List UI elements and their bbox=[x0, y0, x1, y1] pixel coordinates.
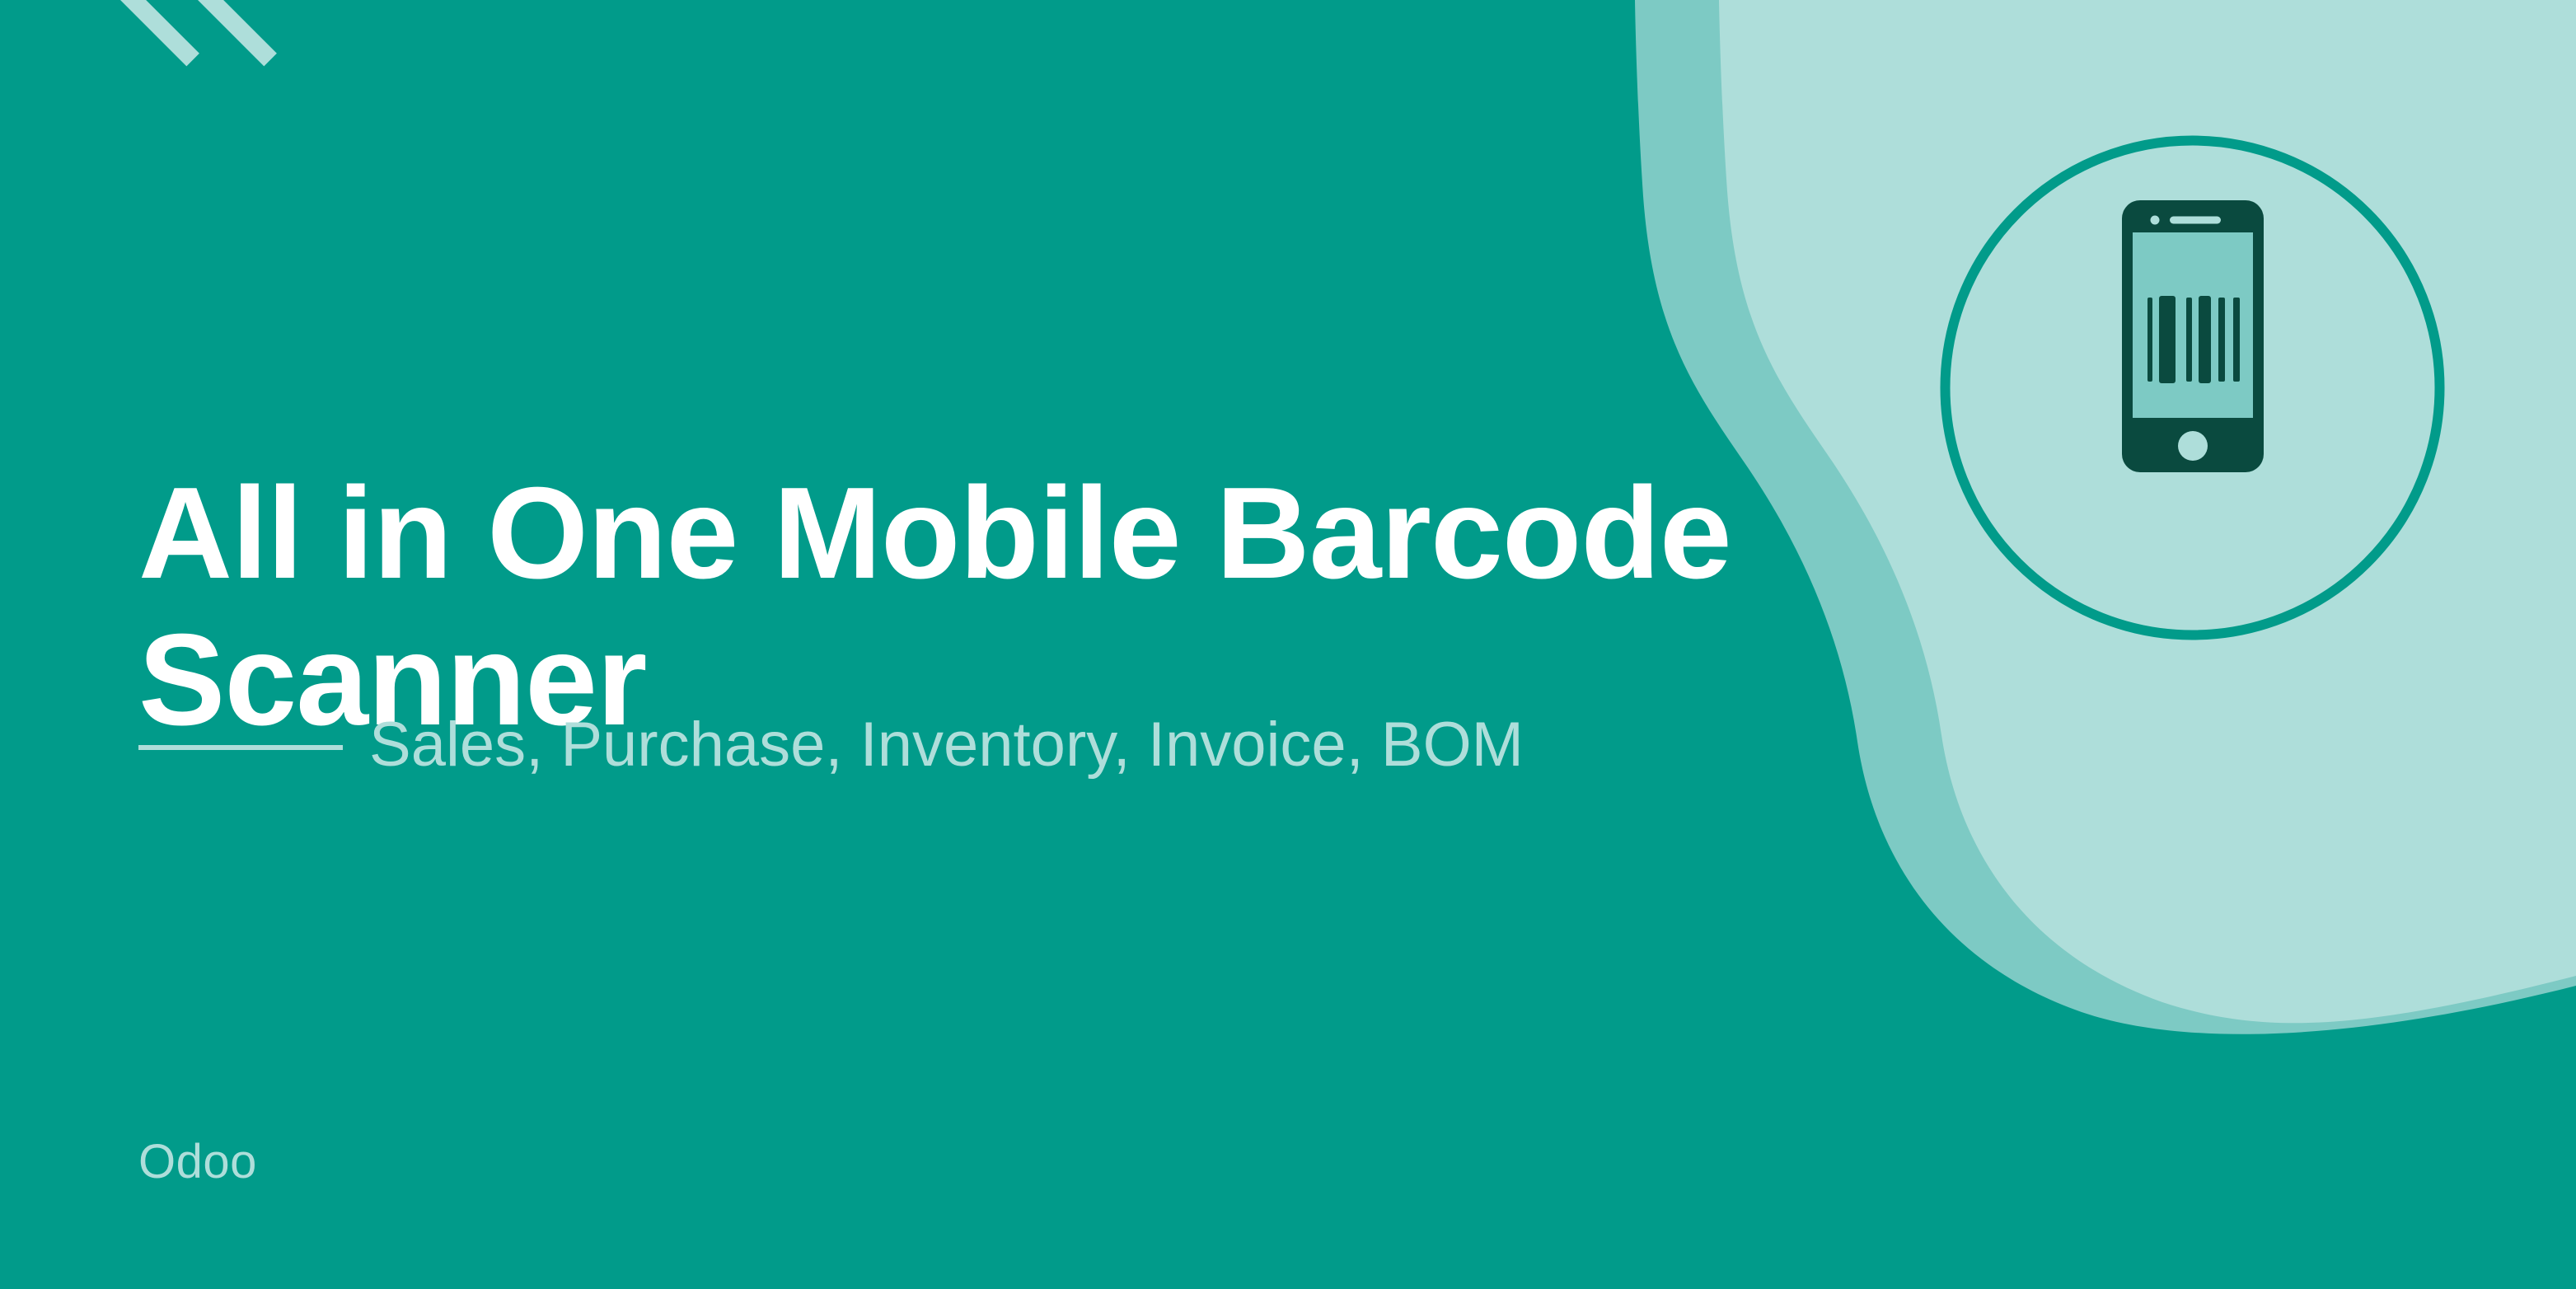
slide-subtitle: Sales, Purchase, Inventory, Invoice, BOM bbox=[369, 707, 1778, 784]
diagonal-stripe-icon bbox=[153, 0, 277, 66]
barcode-scanner-illustration bbox=[1935, 130, 2450, 645]
camera-dot-icon bbox=[2151, 216, 2160, 225]
slide-subtitle-row: Sales, Purchase, Inventory, Invoice, BOM bbox=[138, 707, 1778, 784]
speaker-slot-icon bbox=[2170, 217, 2221, 224]
subtitle-rule bbox=[138, 745, 343, 750]
home-button-icon bbox=[2178, 431, 2208, 461]
brand-label: Odoo bbox=[138, 1134, 257, 1189]
diagonal-stripe-icon bbox=[76, 0, 199, 66]
diagonal-stripes-decoration bbox=[0, 0, 346, 198]
slide-canvas: All in One Mobile Barcode Scanner Sales,… bbox=[0, 0, 2576, 1289]
